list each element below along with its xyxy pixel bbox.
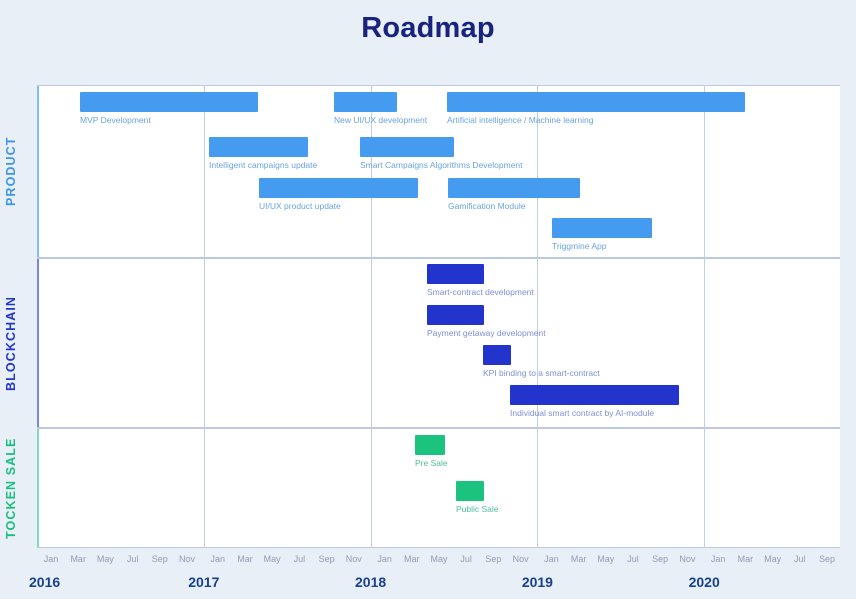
task-bar[interactable] (510, 385, 679, 405)
year-tick-2017: 2017 (174, 574, 234, 590)
task-label: Intelligent campaigns update (209, 160, 317, 171)
month-tick-2020-Sep: Sep (812, 554, 842, 564)
month-tick-2016-Sep: Sep (145, 554, 175, 564)
task-label: Public Sale (456, 504, 499, 515)
month-tick-2016-Jan: Jan (36, 554, 66, 564)
task-label: Smart Campaigns Algorithms Development (360, 160, 523, 171)
task-bar[interactable] (552, 218, 652, 238)
month-tick-2018-Sep: Sep (478, 554, 508, 564)
month-tick-2016-Nov: Nov (172, 554, 202, 564)
section-accent-blockchain (37, 259, 39, 427)
task-bar[interactable] (415, 435, 445, 455)
month-tick-2019-Jan: Jan (536, 554, 566, 564)
month-tick-2019-Mar: Mar (564, 554, 594, 564)
task-bar[interactable] (448, 178, 580, 198)
task-bar[interactable] (427, 305, 484, 325)
task-bar[interactable] (334, 92, 397, 112)
month-tick-2020-Jul: Jul (785, 554, 815, 564)
section-accent-product (37, 86, 39, 257)
month-tick-2019-Sep: Sep (645, 554, 675, 564)
month-tick-2016-Mar: Mar (63, 554, 93, 564)
month-tick-2016-Jul: Jul (118, 554, 148, 564)
month-tick-2020-Jan: Jan (703, 554, 733, 564)
month-tick-2019-Nov: Nov (672, 554, 702, 564)
page-title: Roadmap (0, 12, 856, 45)
year-tick-2018: 2018 (341, 574, 401, 590)
task-label: UI/UX product update (259, 201, 341, 212)
section-accent-tockensale (37, 429, 39, 547)
gantt-chart: MVP DevelopmentNew UI/UX developmentArti… (37, 85, 840, 548)
section-label-tockensale: TOCKEN SALE (4, 428, 18, 548)
task-label: Artificial intelligence / Machine learni… (447, 115, 593, 126)
gridline-year-2019 (537, 85, 538, 548)
gridline-year-2017 (204, 85, 205, 548)
month-tick-2017-May: May (257, 554, 287, 564)
task-label: KPI binding to a smart-contract (483, 368, 600, 379)
task-bar[interactable] (447, 92, 745, 112)
task-label: Gamification Module (448, 201, 525, 212)
task-label: Payment getaway development (427, 328, 546, 339)
month-tick-2018-Jan: Jan (370, 554, 400, 564)
month-tick-2017-Jan: Jan (203, 554, 233, 564)
year-tick-2020: 2020 (674, 574, 734, 590)
month-tick-2018-Mar: Mar (397, 554, 427, 564)
month-tick-2017-Mar: Mar (230, 554, 260, 564)
task-label: Pre Sale (415, 458, 448, 469)
month-tick-2017-Sep: Sep (312, 554, 342, 564)
task-bar[interactable] (483, 345, 511, 365)
task-bar[interactable] (259, 178, 418, 198)
time-axis: JanMarMayJulSepNov2016JanMarMayJulSepNov… (37, 548, 840, 599)
month-tick-2018-May: May (424, 554, 454, 564)
section-label-product: PRODUCT (4, 85, 18, 258)
task-bar[interactable] (80, 92, 258, 112)
month-tick-2020-May: May (758, 554, 788, 564)
month-tick-2016-May: May (90, 554, 120, 564)
month-tick-2017-Nov: Nov (339, 554, 369, 564)
month-tick-2019-May: May (591, 554, 621, 564)
month-tick-2020-Mar: Mar (730, 554, 760, 564)
year-tick-2016: 2016 (29, 574, 89, 590)
year-tick-2019: 2019 (507, 574, 567, 590)
task-bar[interactable] (360, 137, 454, 157)
month-tick-2019-Jul: Jul (618, 554, 648, 564)
task-bar[interactable] (209, 137, 308, 157)
task-label: MVP Development (80, 115, 151, 126)
task-bar[interactable] (427, 264, 484, 284)
task-label: Individual smart contract by AI-module (510, 408, 654, 419)
task-label: Smart-contract development (427, 287, 534, 298)
month-tick-2017-Jul: Jul (284, 554, 314, 564)
gridline-year-2020 (704, 85, 705, 548)
task-label: New UI/UX development (334, 115, 427, 126)
month-tick-2018-Nov: Nov (506, 554, 536, 564)
task-label: Triggmine App (552, 241, 607, 252)
section-label-blockchain: BLOCKCHAIN (4, 258, 18, 428)
month-tick-2018-Jul: Jul (451, 554, 481, 564)
task-bar[interactable] (456, 481, 484, 501)
